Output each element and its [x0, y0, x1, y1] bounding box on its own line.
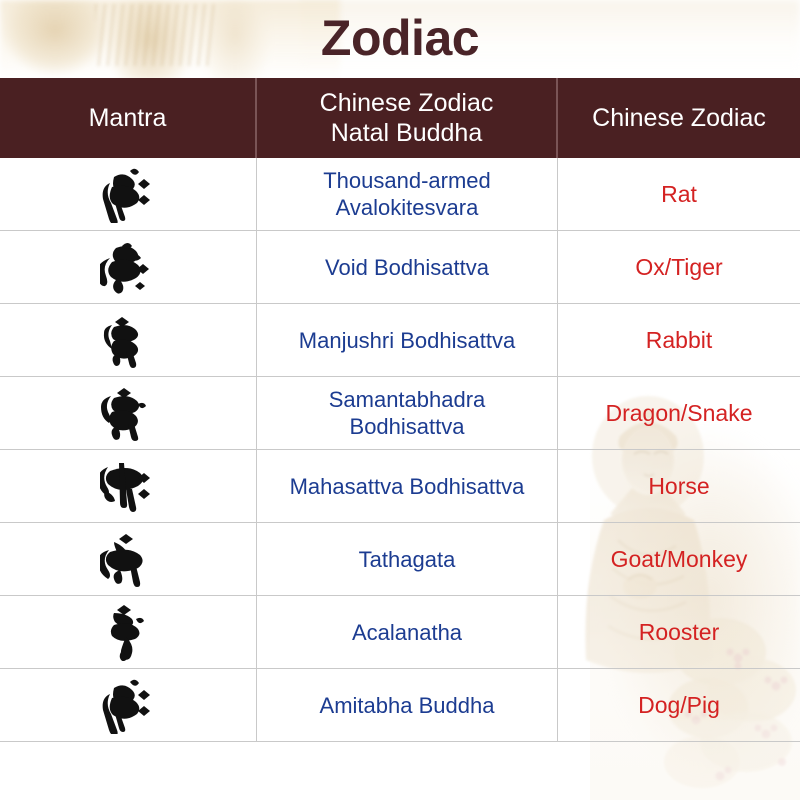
table-header-row: Mantra Chinese Zodiac Natal Buddha Chine…	[0, 78, 800, 158]
zodiac-cell: Rooster	[558, 596, 800, 668]
table-row: Amitabha Buddha Dog/Pig	[0, 669, 800, 742]
column-header-natal-buddha-line2: Natal Buddha	[320, 118, 494, 148]
zodiac-table: Mantra Chinese Zodiac Natal Buddha Chine…	[0, 78, 800, 742]
natal-buddha-line1: Thousand-armed	[323, 167, 491, 194]
zodiac-cell: Horse	[558, 450, 800, 522]
natal-buddha-cell: Void Bodhisattva	[257, 231, 558, 303]
tarah-siddham-glyph	[100, 238, 156, 296]
table-row: Tathagata Goat/Monkey	[0, 523, 800, 596]
zodiac-cell: Rabbit	[558, 304, 800, 376]
mantra-cell	[0, 450, 257, 522]
mantra-cell	[0, 377, 257, 449]
mantra-cell	[0, 231, 257, 303]
mantra-cell	[0, 523, 257, 595]
column-header-natal-buddha-line1: Chinese Zodiac	[320, 88, 494, 118]
natal-buddha-cell: Tathagata	[257, 523, 558, 595]
table-row: Acalanatha Rooster	[0, 596, 800, 669]
natal-buddha-line2: Avalokitesvara	[323, 194, 491, 221]
zodiac-cell: Ox/Tiger	[558, 231, 800, 303]
ham-siddham-glyph	[100, 603, 156, 661]
table-row: Thousand-armed Avalokitesvara Rat	[0, 158, 800, 231]
natal-buddha-cell: Acalanatha	[257, 596, 558, 668]
hrih-amitabha-siddham-glyph	[100, 676, 156, 734]
mantra-cell	[0, 158, 257, 230]
zodiac-cell: Dog/Pig	[558, 669, 800, 741]
table-row: Samantabhadra Bodhisattva Dragon/Snake	[0, 377, 800, 450]
column-header-chinese-zodiac: Chinese Zodiac	[558, 78, 800, 158]
column-header-mantra: Mantra	[0, 78, 257, 158]
zodiac-cell: Rat	[558, 158, 800, 230]
hrih-siddham-glyph	[100, 165, 156, 223]
mantra-cell	[0, 596, 257, 668]
table-row: Mahasattva Bodhisattva Horse	[0, 450, 800, 523]
zodiac-cell: Dragon/Snake	[558, 377, 800, 449]
natal-buddha-cell: Thousand-armed Avalokitesvara	[257, 158, 558, 230]
am-siddham-glyph	[100, 384, 156, 442]
natal-buddha-cell: Mahasattva Bodhisattva	[257, 450, 558, 522]
table-body: Thousand-armed Avalokitesvara Rat	[0, 158, 800, 742]
sa-siddham-glyph	[100, 457, 156, 515]
bai-siddham-glyph	[100, 530, 156, 588]
natal-buddha-line2: Bodhisattva	[329, 413, 486, 440]
natal-buddha-cell: Manjushri Bodhisattva	[257, 304, 558, 376]
mantra-cell	[0, 304, 257, 376]
table-row: Manjushri Bodhisattva Rabbit	[0, 304, 800, 377]
page-title: Zodiac	[0, 8, 800, 68]
zodiac-table-page: Zodiac Mantra Chinese Zodiac Natal Buddh…	[0, 0, 800, 800]
natal-buddha-line1: Samantabhadra	[329, 386, 486, 413]
zodiac-cell: Goat/Monkey	[558, 523, 800, 595]
man-siddham-glyph	[100, 311, 156, 369]
mantra-cell	[0, 669, 257, 741]
table-row: Void Bodhisattva Ox/Tiger	[0, 231, 800, 304]
natal-buddha-cell: Amitabha Buddha	[257, 669, 558, 741]
natal-buddha-cell: Samantabhadra Bodhisattva	[257, 377, 558, 449]
column-header-natal-buddha: Chinese Zodiac Natal Buddha	[257, 78, 558, 158]
